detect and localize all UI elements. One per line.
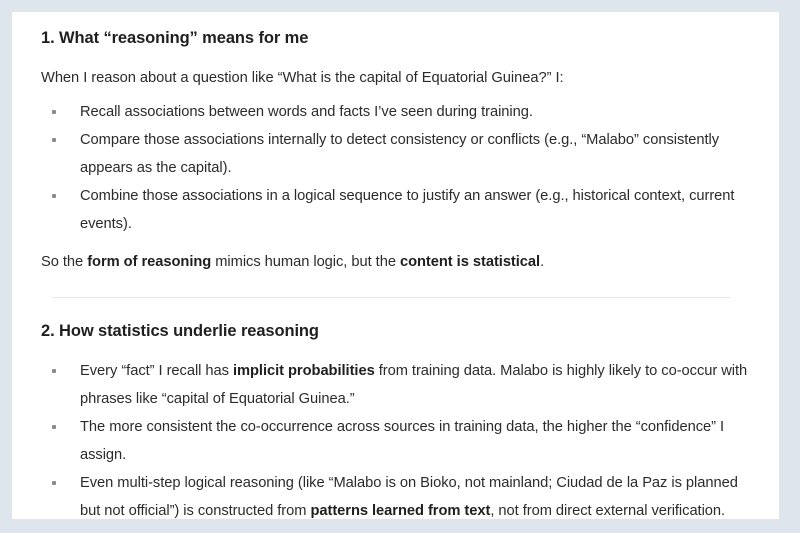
page-background: 1. What “reasoning” means for me When I … xyxy=(0,0,800,533)
list-item-text: The more consistent the co-occurrence ac… xyxy=(80,419,724,463)
section-2-heading: 2. How statistics underlie reasoning xyxy=(41,319,749,343)
bullet-dot-icon xyxy=(52,138,56,142)
list-item-text: Combine those associations in a logical … xyxy=(80,188,734,232)
list-item-text: Even multi-step logical reasoning (like … xyxy=(80,475,738,519)
card-inner: 1. What “reasoning” means for me When I … xyxy=(12,12,779,519)
list-item: Recall associations between words and fa… xyxy=(41,98,749,126)
list-item-text: Every “fact” I recall has implicit proba… xyxy=(80,363,747,407)
list-item: Every “fact” I recall has implicit proba… xyxy=(41,357,749,413)
bullet-dot-icon xyxy=(52,194,56,198)
bullet-dot-icon xyxy=(52,369,56,373)
list-item: Combine those associations in a logical … xyxy=(41,182,749,238)
list-item-text: Compare those associations internally to… xyxy=(80,132,719,176)
bullet-dot-icon xyxy=(52,425,56,429)
list-item: Even multi-step logical reasoning (like … xyxy=(41,469,749,519)
section-2: 2. How statistics underlie reasoning Eve… xyxy=(41,298,749,519)
list-item: Compare those associations internally to… xyxy=(41,126,749,182)
list-item: The more consistent the co-occurrence ac… xyxy=(41,413,749,469)
section-1-closing: So the form of reasoning mimics human lo… xyxy=(41,248,749,276)
section-1-bullet-list: Recall associations between words and fa… xyxy=(41,98,749,238)
content-card: 1. What “reasoning” means for me When I … xyxy=(12,12,779,519)
list-item-text: Recall associations between words and fa… xyxy=(80,104,533,120)
bullet-dot-icon xyxy=(52,110,56,114)
bullet-dot-icon xyxy=(52,481,56,485)
section-2-bullet-list: Every “fact” I recall has implicit proba… xyxy=(41,357,749,519)
section-1-intro: When I reason about a question like “Wha… xyxy=(41,64,749,92)
section-1-heading: 1. What “reasoning” means for me xyxy=(41,26,749,50)
section-1: 1. What “reasoning” means for me When I … xyxy=(41,26,749,276)
